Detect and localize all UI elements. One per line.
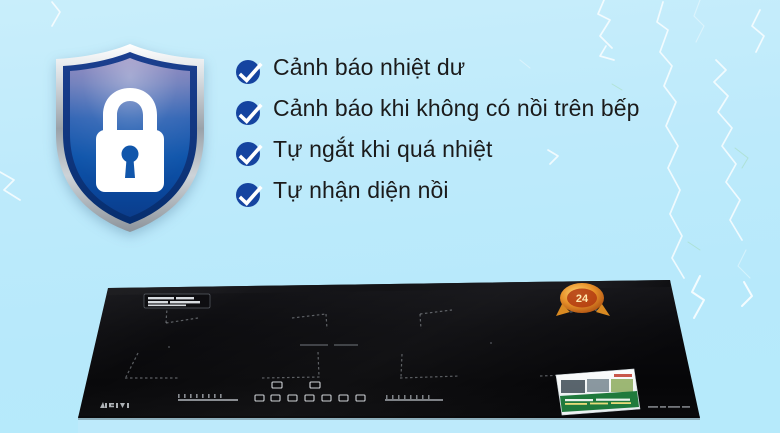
check-circle-icon [234, 97, 264, 127]
feature-item-1: Cảnh báo khi không có nồi trên bếp [234, 93, 754, 127]
model-code [648, 406, 690, 408]
feature-item-2: Tự ngắt khi quá nhiệt [234, 134, 754, 168]
promo-sticker [556, 369, 640, 415]
check-circle-icon [234, 179, 264, 209]
feature-label: Cảnh báo nhiệt dư [273, 52, 465, 83]
feature-label: Cảnh báo khi không có nồi trên bếp [273, 93, 640, 124]
security-shield-graphic [46, 38, 214, 238]
check-circle-icon [234, 138, 264, 168]
feature-item-0: Cảnh báo nhiệt dư [234, 52, 754, 86]
feature-item-3: Tự nhận diện nồi [234, 175, 754, 209]
induction-cooktop-image: 24 [0, 268, 780, 433]
feature-label: Tự nhận diện nồi [273, 175, 449, 206]
check-circle-icon [234, 56, 264, 86]
feature-label: Tự ngắt khi quá nhiệt [273, 134, 493, 165]
promo-banner: Cảnh báo nhiệt dư Cảnh báo khi không có … [0, 0, 780, 433]
warranty-badge-text: 24 [576, 293, 589, 305]
feature-list: Cảnh báo nhiệt dư Cảnh báo khi không có … [234, 52, 754, 216]
spec-sticker [144, 294, 210, 308]
